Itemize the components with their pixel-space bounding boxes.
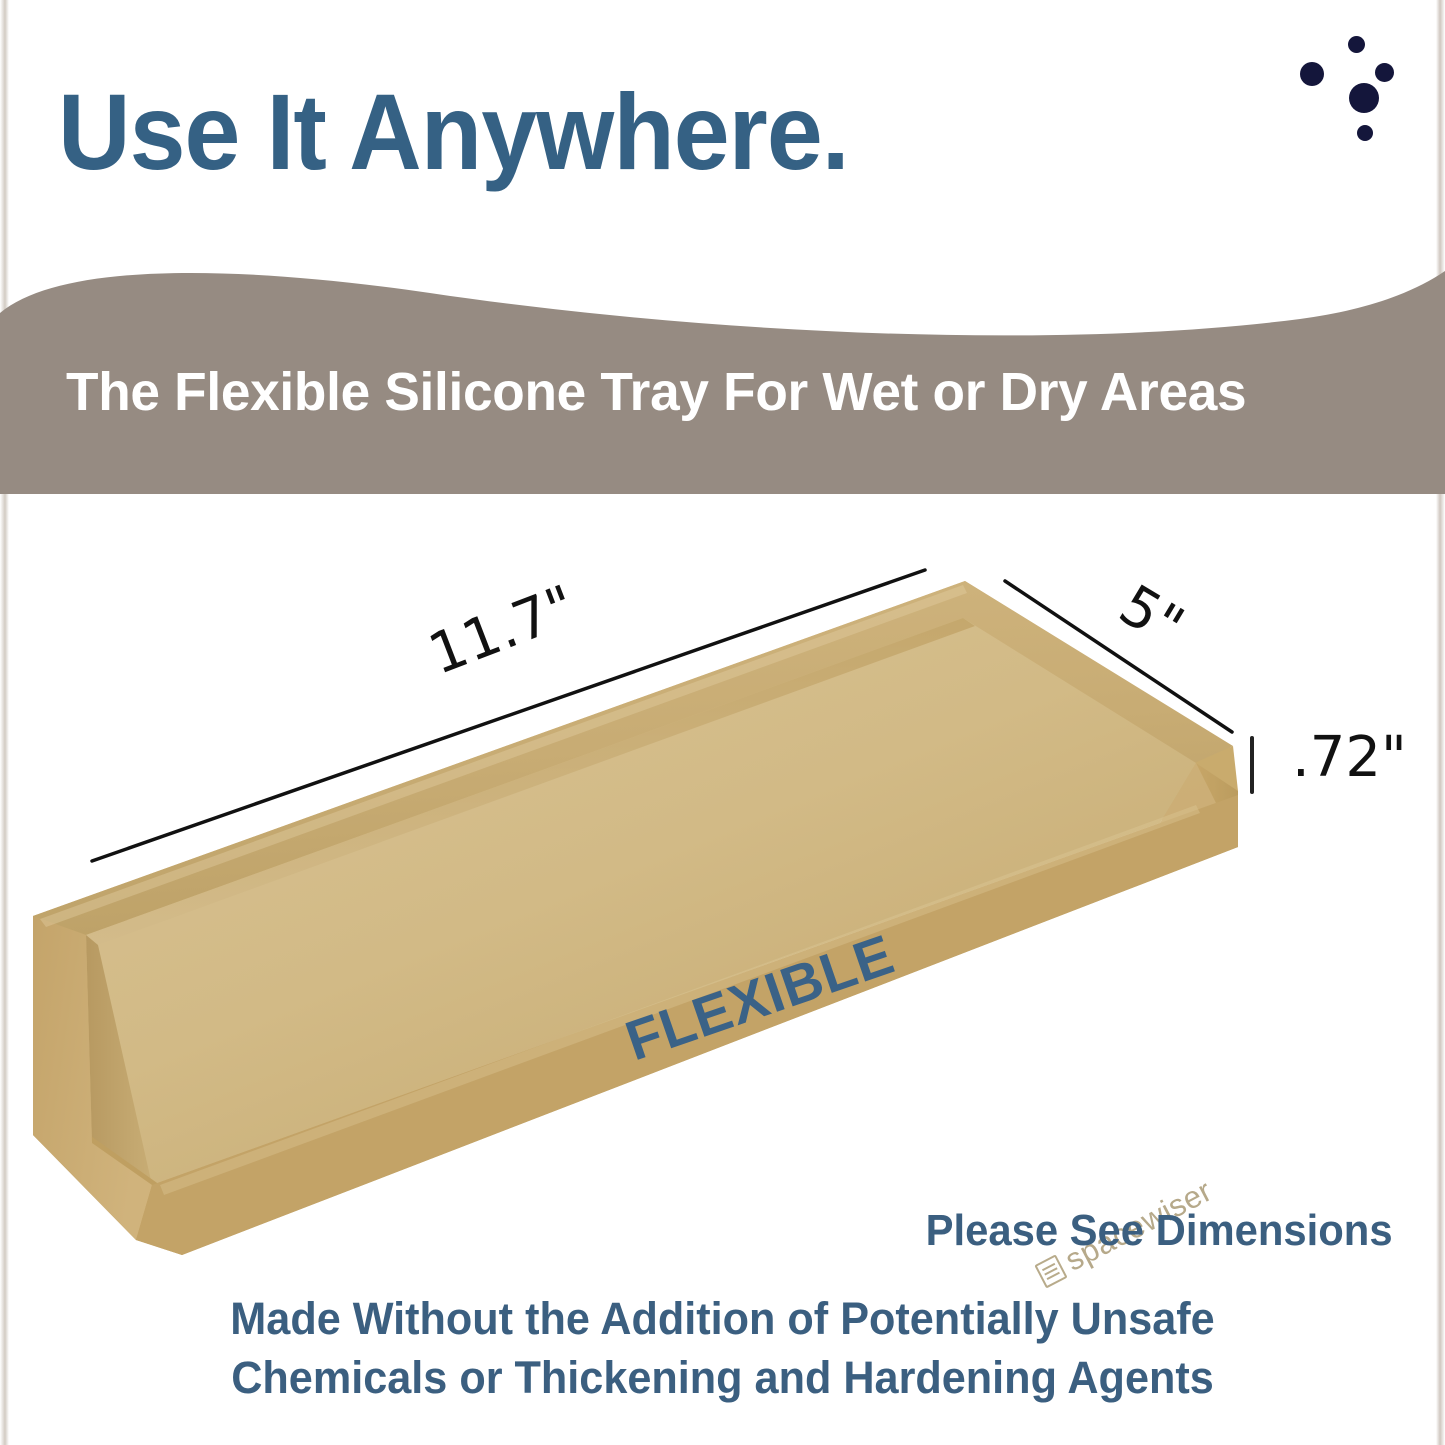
disclaimer-line-2: Chemicals or Thickening and Hardening Ag… — [29, 1349, 1416, 1408]
decorative-dot — [1300, 62, 1324, 86]
tray-lines-icon — [1034, 1254, 1067, 1288]
decorative-dot — [1357, 125, 1373, 141]
decorative-dot — [1349, 83, 1379, 113]
decorative-dot — [1375, 63, 1394, 82]
product-illustration: spacewiser — [0, 495, 1445, 1275]
dimension-label-height: .72" — [1292, 725, 1407, 790]
see-dimensions-note: Please See Dimensions — [926, 1206, 1393, 1256]
decorative-dot — [1348, 36, 1365, 53]
disclaimer-line-1: Made Without the Addition of Potentially… — [29, 1290, 1416, 1349]
subtitle-banner: The Flexible Silicone Tray For Wet or Dr… — [0, 265, 1445, 495]
subtitle-text: The Flexible Silicone Tray For Wet or Dr… — [66, 361, 1246, 423]
page-title: Use It Anywhere. — [58, 78, 849, 186]
decorative-dot-cluster — [1300, 36, 1420, 166]
tray-drawing — [0, 495, 1445, 1275]
product-infographic: Use It Anywhere. The Flexible Silicone T… — [0, 0, 1445, 1445]
disclaimer-text: Made Without the Addition of Potentially… — [0, 1290, 1445, 1407]
